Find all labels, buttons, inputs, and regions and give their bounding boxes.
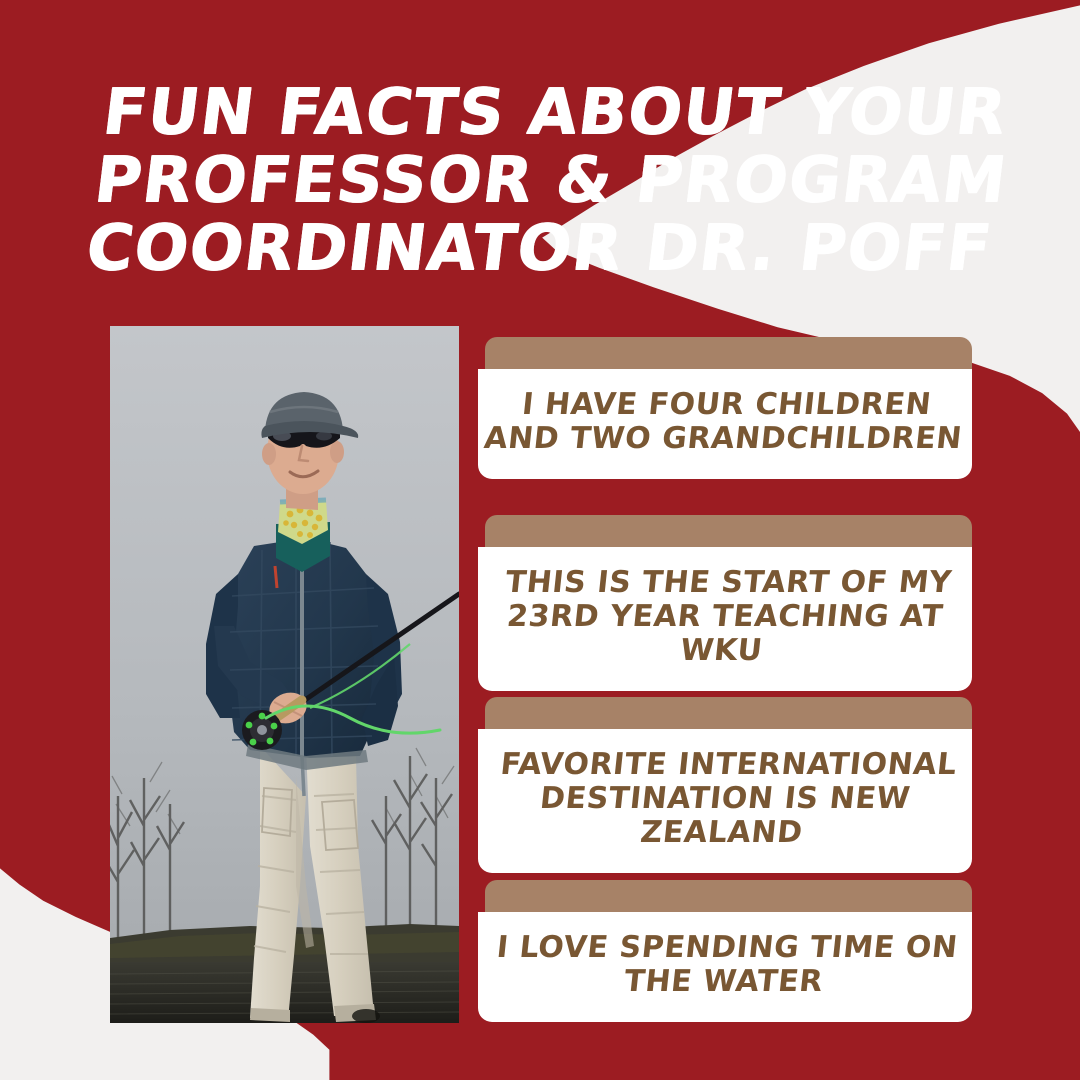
fact-card-text: Favorite international destination is Ne…	[492, 748, 959, 850]
page-title: Fun Facts About Your Professor & Program…	[82, 78, 987, 282]
professor-photo	[110, 326, 459, 1023]
fact-card-text-line: 23rd year teaching at	[500, 600, 950, 634]
fact-card-text-line: Zealand	[492, 816, 952, 850]
fact-card-text-line: I have four children	[486, 388, 967, 422]
page-title-line-3: Coordinator Dr. Poff	[82, 214, 970, 282]
fact-card-body: I have four children and two grandchildr…	[478, 369, 972, 479]
fact-card-text-line: I love spending time on	[495, 931, 959, 965]
fact-card-body: This is the start of my 23rd year teachi…	[478, 547, 972, 691]
page-title-line-2: Professor & Program	[91, 146, 979, 214]
fact-card-text: I have four children and two grandchildr…	[483, 388, 968, 456]
fact-card-text-line: the water	[491, 965, 955, 999]
fact-card-text: I love spending time on the water	[491, 931, 959, 999]
fact-card-list: I have four children and two grandchildr…	[478, 330, 976, 1030]
fact-card-text-line: destination is New	[495, 782, 955, 816]
fact-card-text-line: WKU	[497, 634, 947, 668]
fact-card-text-line: and two grandchildren	[483, 422, 964, 456]
fact-card-text: This is the start of my 23rd year teachi…	[497, 566, 954, 668]
page-title-line-1: Fun Facts About Your	[99, 78, 987, 146]
fact-card-body: I love spending time on the water	[478, 912, 972, 1022]
fact-card-body: Favorite international destination is Ne…	[478, 729, 972, 873]
fact-card-text-line: This is the start of my	[504, 566, 954, 600]
fact-card-text-line: Favorite international	[499, 748, 959, 782]
poster-canvas: Fun Facts About Your Professor & Program…	[0, 0, 1080, 1080]
